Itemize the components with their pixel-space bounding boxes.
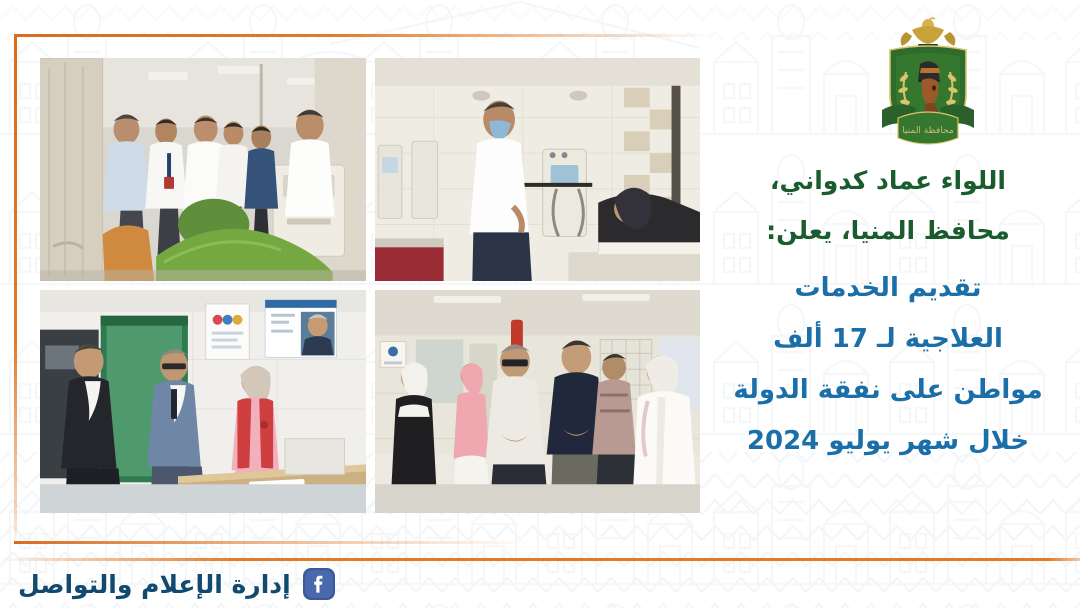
- emblem-caption: محافظة المنيا: [902, 126, 954, 136]
- photo-bottom-left: [40, 290, 366, 513]
- headline-line-2: محافظ المنيا، يعلن:: [718, 218, 1058, 244]
- footer-divider-rule: [0, 558, 1080, 561]
- frame-bottom-border: [14, 541, 534, 544]
- headline-block: اللواء عماد كدواني، محافظ المنيا، يعلن: …: [718, 168, 1058, 456]
- facebook-icon[interactable]: [302, 567, 336, 601]
- headline-line-5: مواطن على نفقة الدولة: [718, 377, 1058, 404]
- photo-bottom-right: [375, 290, 701, 513]
- photo-top-right: [375, 58, 701, 281]
- frame-top-border: [14, 34, 714, 37]
- headline-line-4: العلاجية لـ 17 ألف: [718, 326, 1058, 353]
- footer-bar: إدارة الإعلام والتواصل: [18, 563, 336, 605]
- governorate-emblem: محافظة المنيا: [868, 14, 988, 162]
- photo-top-left: [40, 58, 366, 281]
- headline-line-6: خلال شهر يوليو 2024: [718, 428, 1058, 455]
- photo-collage: [40, 58, 700, 513]
- headline-line-1: اللواء عماد كدواني،: [718, 168, 1058, 194]
- headline-line-3: تقديم الخدمات: [718, 275, 1058, 302]
- footer-label: إدارة الإعلام والتواصل: [18, 570, 291, 599]
- frame-left-border: [14, 34, 17, 544]
